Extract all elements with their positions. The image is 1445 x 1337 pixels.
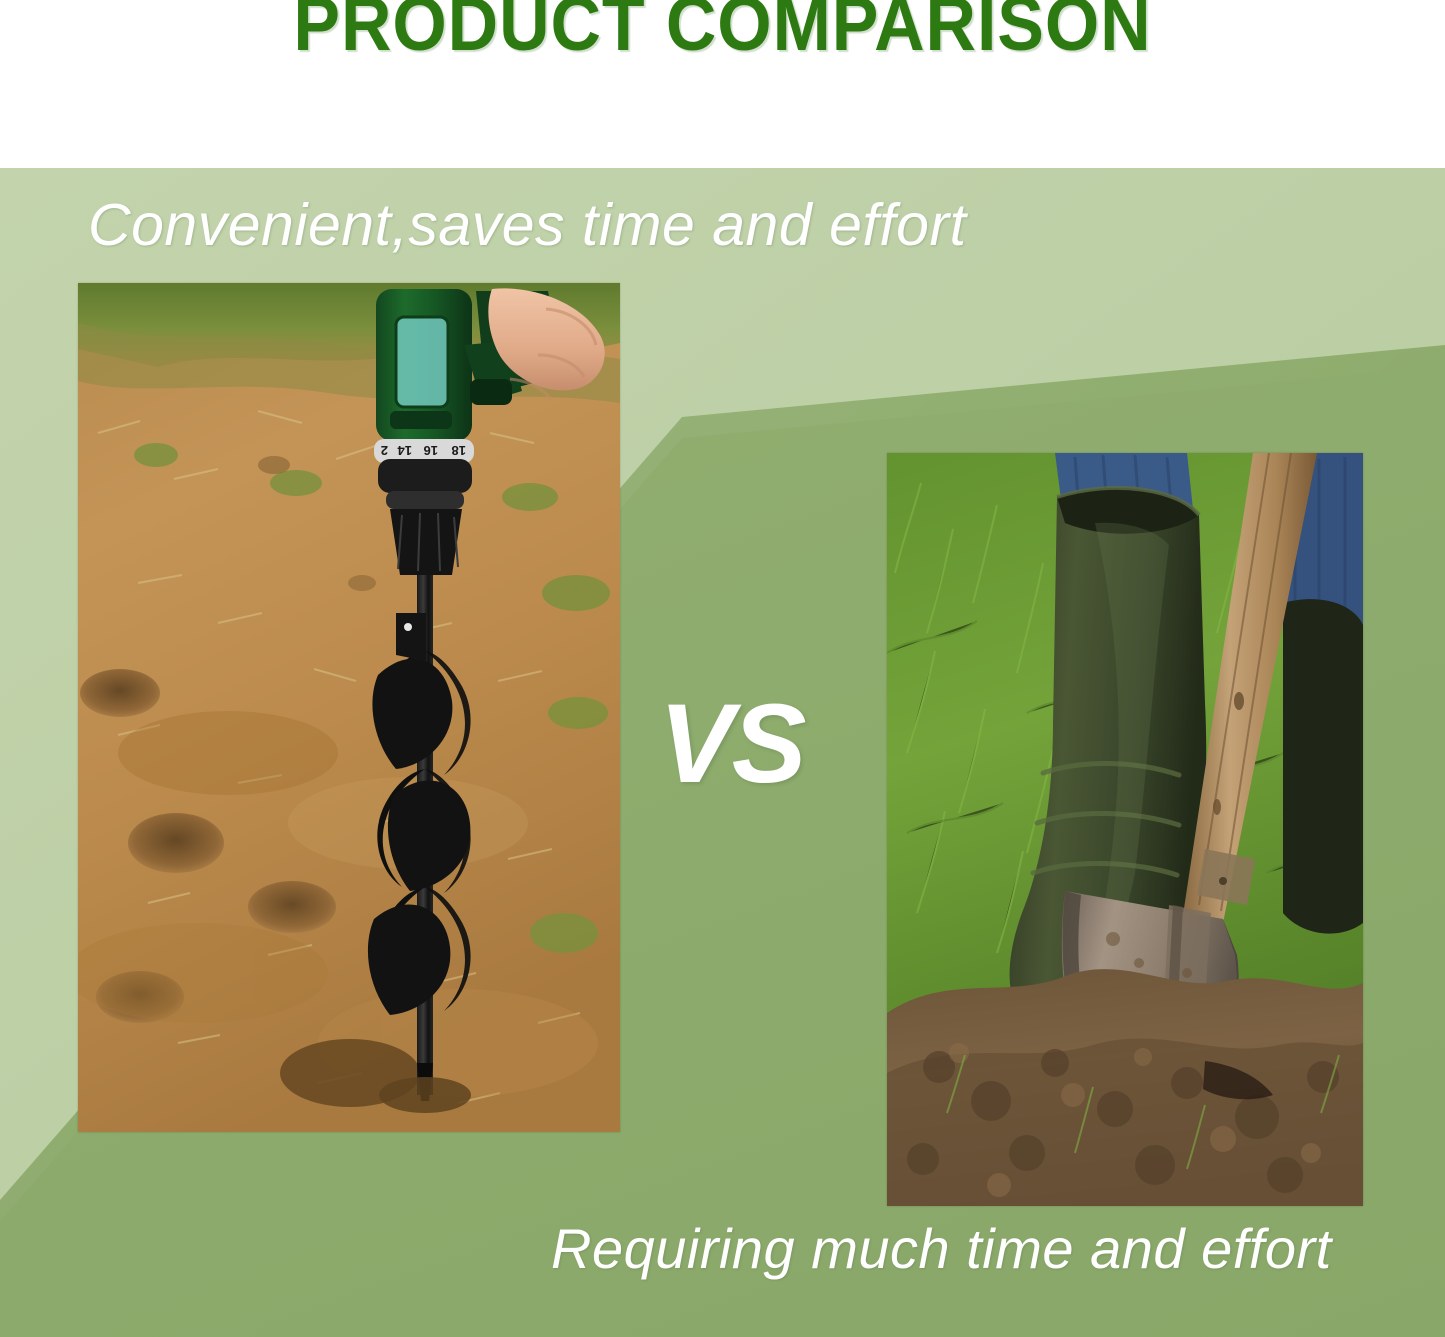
svg-text:16: 16 [424,443,438,458]
auger-drill-illustration: 18 16 14 2 [78,283,620,1132]
svg-text:18: 18 [452,443,466,458]
svg-text:2: 2 [381,443,388,458]
product-comparison-poster: PRODUCT COMPARISON [0,0,1445,1337]
header-band: PRODUCT COMPARISON [0,0,1445,168]
shovel-digging-illustration [887,453,1363,1206]
left-caption: Convenient,saves time and effort [88,192,967,258]
shovel-digging-photo [887,453,1363,1206]
right-caption: Requiring much time and effort [551,1218,1332,1280]
page-title: PRODUCT COMPARISON [58,0,1387,64]
auger-drill-photo: 18 16 14 2 [78,283,620,1132]
svg-text:14: 14 [397,443,412,458]
vs-divider-label: VS [659,686,804,802]
